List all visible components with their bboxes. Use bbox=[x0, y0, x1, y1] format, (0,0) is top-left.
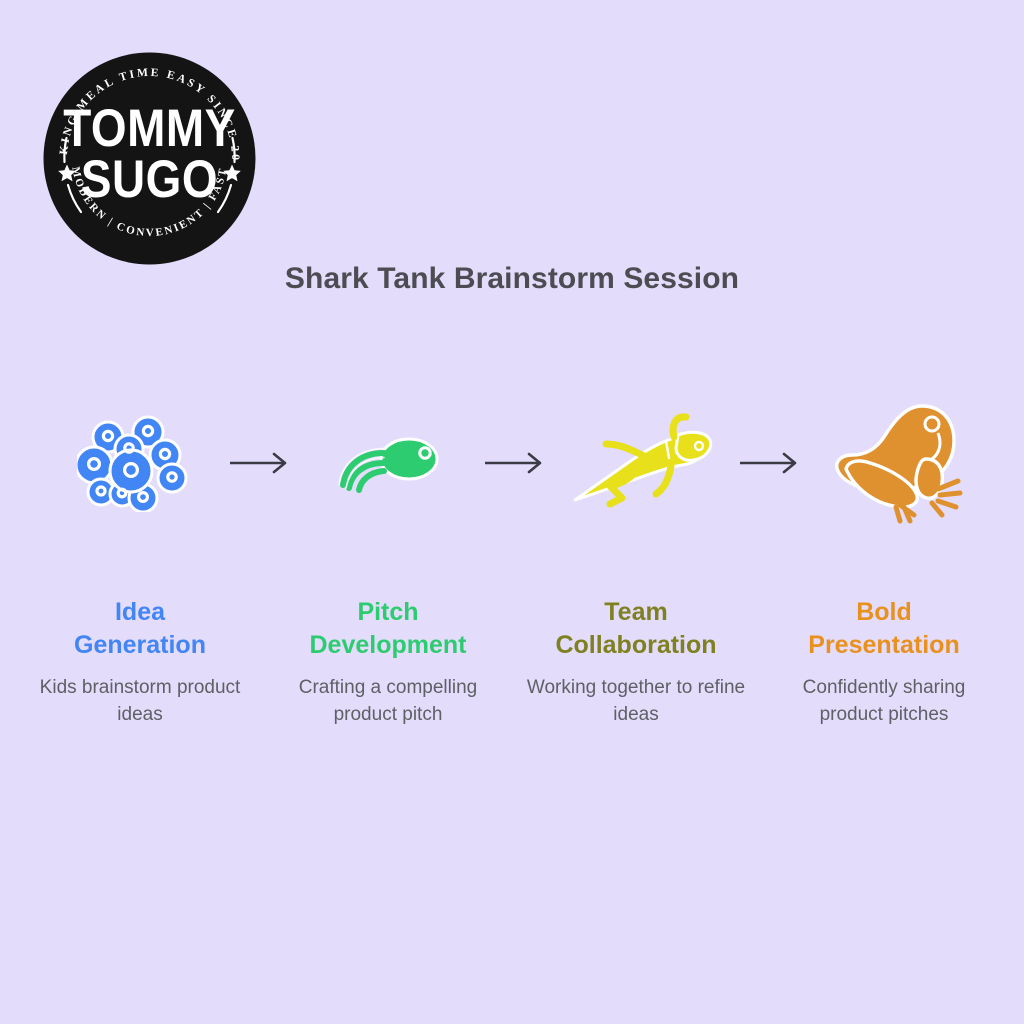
froglet-icon bbox=[570, 408, 716, 518]
tommy-sugo-logo: MAKING MEAL TIME EASY SINCE 2014 MODERN … bbox=[43, 52, 256, 265]
stage-desc-idea-generation: Kids brainstorm product ideas bbox=[24, 674, 256, 728]
flow-arrow-3 bbox=[731, 388, 809, 538]
frog-eggs-icon bbox=[77, 414, 189, 512]
stage-desc-team-collaboration: Working together to refine ideas bbox=[520, 674, 752, 728]
caption-team-collaboration: Team Collaboration Working together to r… bbox=[520, 596, 752, 728]
caption-idea-generation: Idea Generation Kids brainstorm product … bbox=[24, 596, 256, 728]
stage-desc-pitch-development: Crafting a compelling product pitch bbox=[272, 674, 504, 728]
stage-icon-team-collaboration bbox=[555, 388, 730, 538]
page-title: Shark Tank Brainstorm Session bbox=[0, 262, 1024, 296]
lifecycle-flow bbox=[45, 388, 985, 538]
stage-label-team-collaboration: Team Collaboration bbox=[520, 596, 752, 662]
stage-captions: Idea Generation Kids brainstorm product … bbox=[24, 596, 1000, 728]
arrow-right-icon bbox=[739, 452, 801, 474]
stage-desc-bold-presentation: Confidently sharing product pitches bbox=[768, 674, 1000, 728]
stage-icon-pitch-development bbox=[300, 388, 475, 538]
caption-pitch-development: Pitch Development Crafting a compelling … bbox=[272, 596, 504, 728]
arrow-right-icon bbox=[229, 452, 291, 474]
caption-bold-presentation: Bold Presentation Confidently sharing pr… bbox=[768, 596, 1000, 728]
stage-label-bold-presentation: Bold Presentation bbox=[768, 596, 1000, 662]
tadpole-icon bbox=[332, 425, 444, 501]
flow-arrow-2 bbox=[476, 388, 554, 538]
logo-brand-line-2: SUGO bbox=[81, 149, 218, 209]
stage-icon-bold-presentation bbox=[810, 388, 985, 538]
arrow-right-icon bbox=[484, 452, 546, 474]
stage-label-idea-generation: Idea Generation bbox=[24, 596, 256, 662]
flow-arrow-1 bbox=[221, 388, 299, 538]
stage-icon-idea-generation bbox=[45, 388, 220, 538]
frog-icon bbox=[826, 397, 970, 529]
stage-label-pitch-development: Pitch Development bbox=[272, 596, 504, 662]
